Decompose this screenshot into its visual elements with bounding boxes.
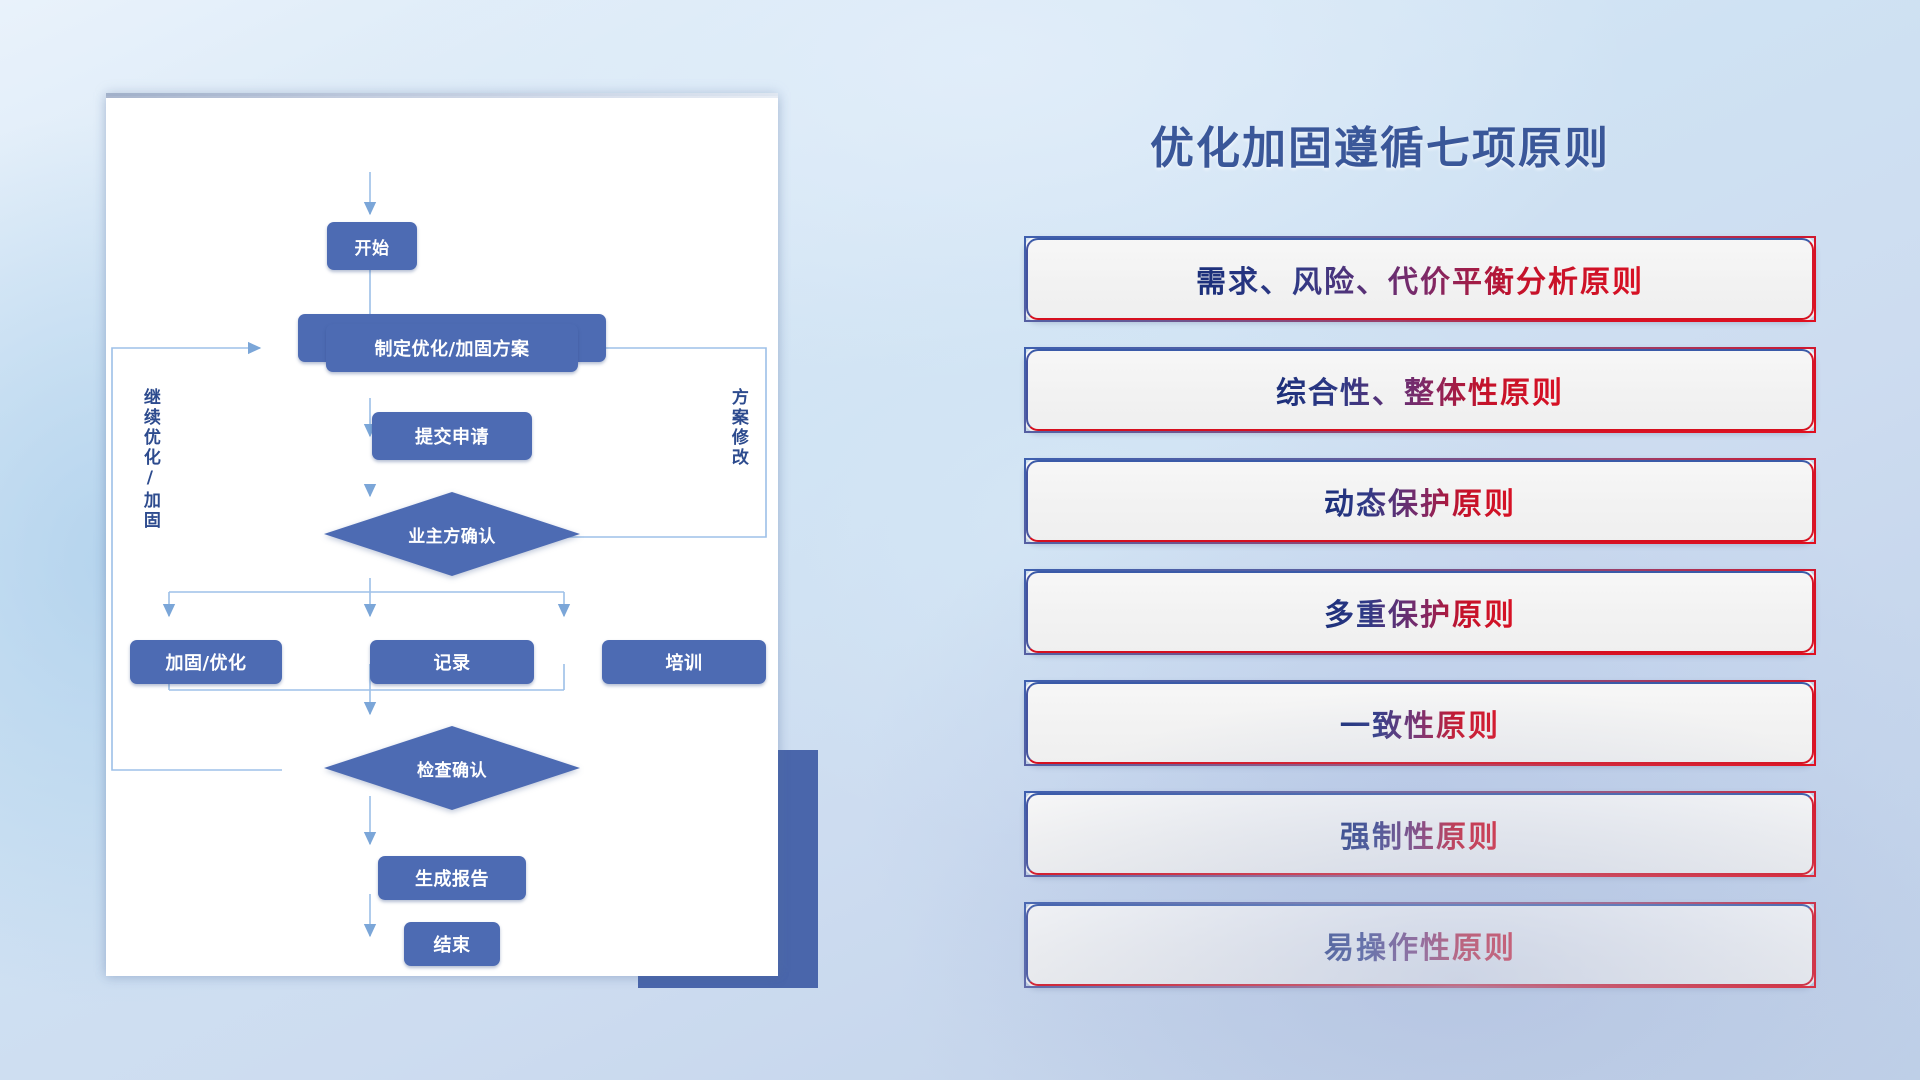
flow-node-record[interactable]: 记录 xyxy=(370,640,534,684)
principle-label: 易操作性原则 xyxy=(1324,923,1516,967)
principles-title: 优化加固遵循七项原则 xyxy=(1150,112,1610,176)
flow-node-start[interactable]: 开始 xyxy=(327,222,417,270)
principle-card-6[interactable]: 强制性原则 xyxy=(1024,791,1816,877)
edge-label-continue-optimize: 继续优化/加固 xyxy=(140,388,158,531)
flow-node-owner-confirm[interactable]: 业主方确认 xyxy=(322,490,582,578)
edge-label-plan-revision: 方案修改 xyxy=(728,388,746,468)
flow-node-make-optimization-plan[interactable]: 制定优化/加固方案 xyxy=(326,324,578,372)
principle-card-5[interactable]: 一致性原则 xyxy=(1024,680,1816,766)
principle-card-4[interactable]: 多重保护原则 xyxy=(1024,569,1816,655)
principle-label: 多重保护原则 xyxy=(1324,590,1516,634)
flow-node-submit-application[interactable]: 提交申请 xyxy=(372,412,532,460)
flow-node-label: 开始 xyxy=(355,234,390,259)
slide-canvas: 开始 风险评估/第三方信息导入 制定优化/加固方案 提交申请 业主方确认 加固/… xyxy=(0,0,1920,1080)
principle-label: 综合性、整体性原则 xyxy=(1276,368,1564,412)
flow-node-label: 检查确认 xyxy=(322,724,582,812)
flow-node-label: 生成报告 xyxy=(415,865,489,891)
flow-node-label: 提交申请 xyxy=(415,423,489,449)
flow-node-generate-report[interactable]: 生成报告 xyxy=(378,856,526,900)
flow-node-end[interactable]: 结束 xyxy=(404,922,500,966)
flow-node-label: 结束 xyxy=(434,931,471,957)
principle-label: 动态保护原则 xyxy=(1324,479,1516,523)
flow-node-label: 记录 xyxy=(434,649,471,675)
principle-card-3[interactable]: 动态保护原则 xyxy=(1024,458,1816,544)
principle-card-2[interactable]: 综合性、整体性原则 xyxy=(1024,347,1816,433)
flow-node-check-confirm[interactable]: 检查确认 xyxy=(322,724,582,812)
principle-label: 一致性原则 xyxy=(1340,701,1500,745)
flow-node-label: 培训 xyxy=(666,649,703,675)
principle-label: 强制性原则 xyxy=(1340,812,1500,856)
flow-node-training[interactable]: 培训 xyxy=(602,640,766,684)
flow-node-reinforce-optimize[interactable]: 加固/优化 xyxy=(130,640,282,684)
principle-card-7[interactable]: 易操作性原则 xyxy=(1024,902,1816,988)
flow-node-label: 业主方确认 xyxy=(322,490,582,578)
principle-label: 需求、风险、代价平衡分析原则 xyxy=(1196,257,1644,301)
flow-node-label: 制定优化/加固方案 xyxy=(374,335,529,361)
principle-card-1[interactable]: 需求、风险、代价平衡分析原则 xyxy=(1024,236,1816,322)
flow-node-label: 加固/优化 xyxy=(165,649,246,675)
